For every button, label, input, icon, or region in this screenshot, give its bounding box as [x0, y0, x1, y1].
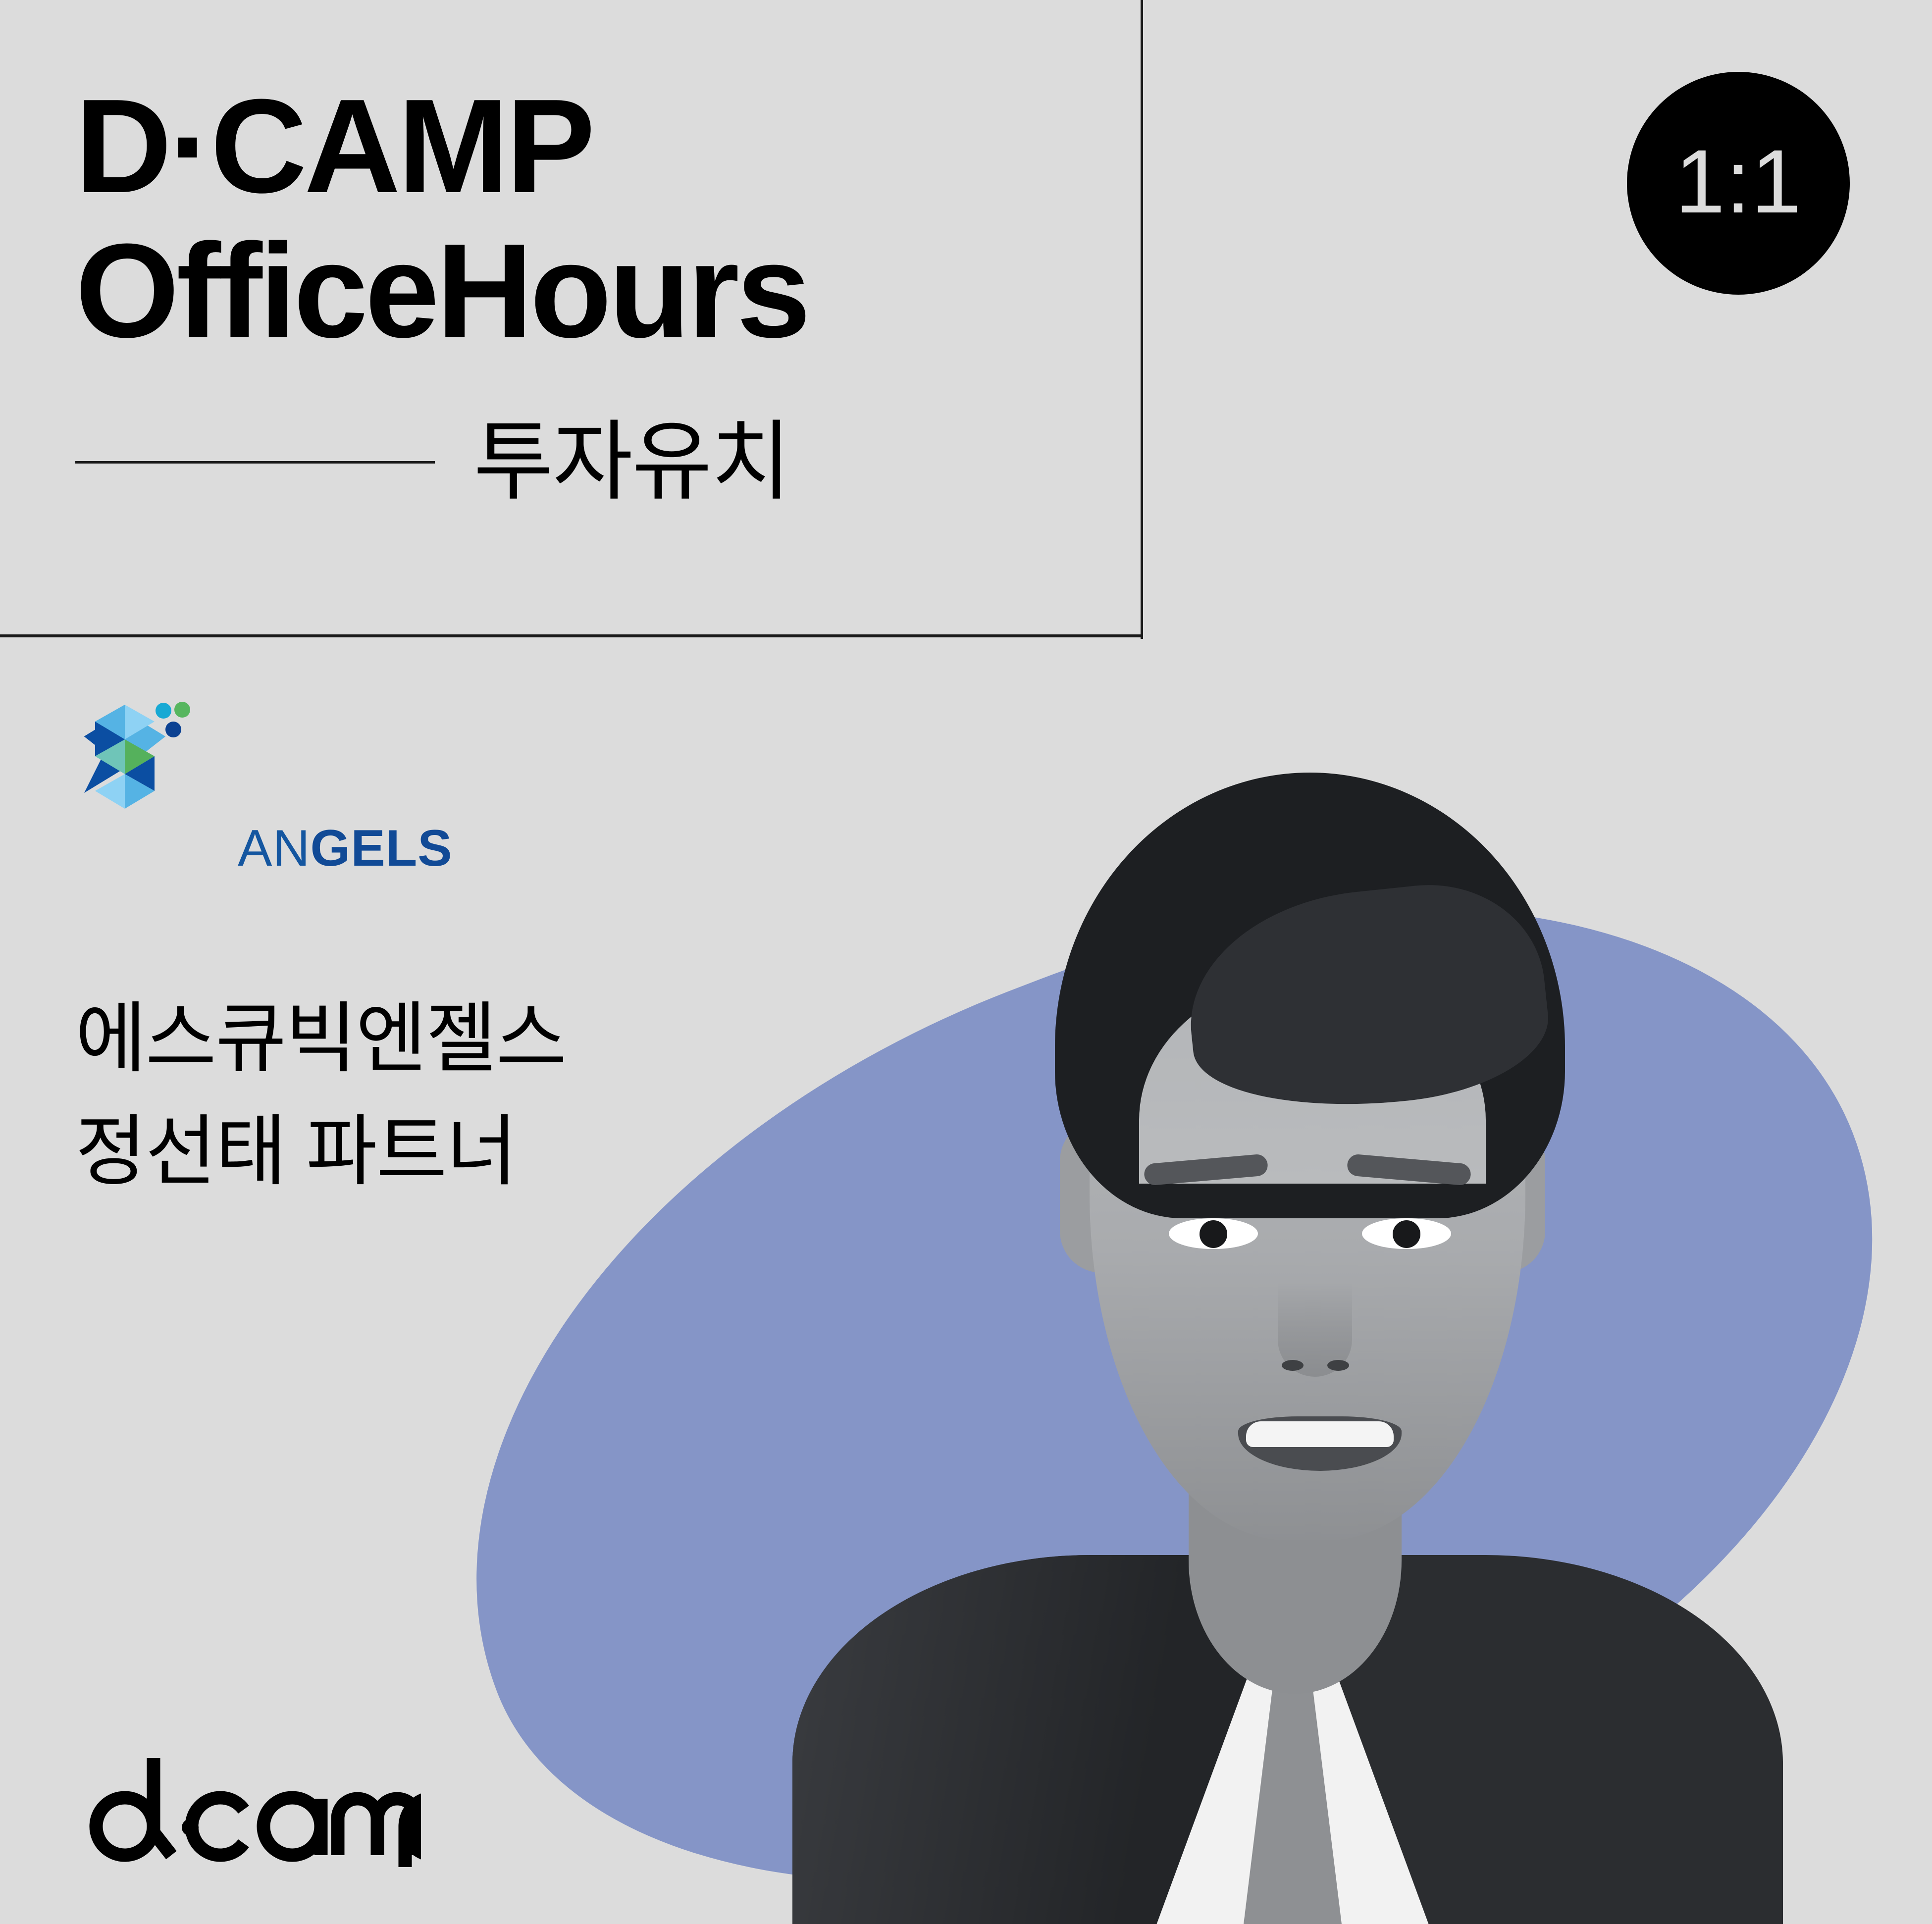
- background-blob-shape: [328, 727, 1932, 1924]
- portrait-hair-sweep: [1178, 874, 1555, 1123]
- portrait-neck: [1189, 1426, 1402, 1694]
- logo-word-part-bold: GELS: [310, 820, 452, 877]
- portrait-ear-left: [1060, 1119, 1134, 1273]
- vertical-divider-rule: [1141, 0, 1143, 639]
- portrait-nose: [1278, 1283, 1352, 1377]
- title-line-one: D·CAMP: [75, 74, 1066, 219]
- portrait-pupil-right: [1393, 1220, 1420, 1248]
- partner-person-title: 정선태 파트너: [75, 1096, 769, 1209]
- portrait-mouth: [1238, 1416, 1402, 1471]
- dcamp-logo: [84, 1753, 421, 1867]
- portrait-hair: [1055, 773, 1565, 1218]
- sqube-angels-s-mark-icon: [84, 696, 208, 894]
- portrait-face: [1090, 891, 1525, 1540]
- subtitle-dash-rule: [75, 461, 435, 464]
- portrait-suit-shading: [792, 1555, 1288, 1924]
- portrait-ear-right: [1471, 1119, 1545, 1273]
- portrait-forehead: [1139, 976, 1486, 1184]
- logo-dot-green: [174, 702, 190, 718]
- portrait-eyebrow-right: [1347, 1153, 1472, 1186]
- portrait-pupil-left: [1200, 1220, 1227, 1248]
- portrait-eyebrow-left: [1144, 1153, 1269, 1186]
- partner-logo: ANGELS: [84, 696, 453, 894]
- subtitle-row: 투자유치: [75, 418, 868, 506]
- partner-identity: 에스큐빅엔젤스 정선태 파트너: [75, 983, 769, 1209]
- horizontal-divider-rule: [0, 634, 1143, 637]
- portrait-collar-gap: [1223, 1614, 1362, 1924]
- portrait-nostril-left: [1282, 1360, 1304, 1371]
- partner-company-name: 에스큐빅엔젤스: [75, 983, 769, 1096]
- poster-canvas: D·CAMP OfficeHours 투자유치 1:1: [0, 0, 1932, 1924]
- logo-word-part-light: AN: [238, 820, 310, 877]
- logo-dot-cyan: [156, 703, 171, 719]
- portrait-eye-left: [1169, 1218, 1258, 1249]
- portrait-teeth: [1246, 1421, 1394, 1447]
- portrait-eye-right: [1362, 1218, 1451, 1249]
- portrait-nostril-right: [1327, 1360, 1349, 1371]
- page-title: D·CAMP OfficeHours: [75, 74, 1066, 363]
- logo-dot-navy: [165, 722, 181, 737]
- subtitle-label: 투자유치: [473, 418, 790, 506]
- title-line-two: OfficeHours: [75, 219, 1066, 364]
- portrait-suit-jacket: [792, 1555, 1783, 1924]
- partner-portrait-photo: [763, 743, 1813, 1924]
- badge-label: 1:1: [1675, 136, 1802, 226]
- partner-logo-wordmark: ANGELS: [238, 823, 453, 874]
- portrait-dress-shirt: [1154, 1585, 1431, 1924]
- one-to-one-badge: 1:1: [1627, 72, 1850, 295]
